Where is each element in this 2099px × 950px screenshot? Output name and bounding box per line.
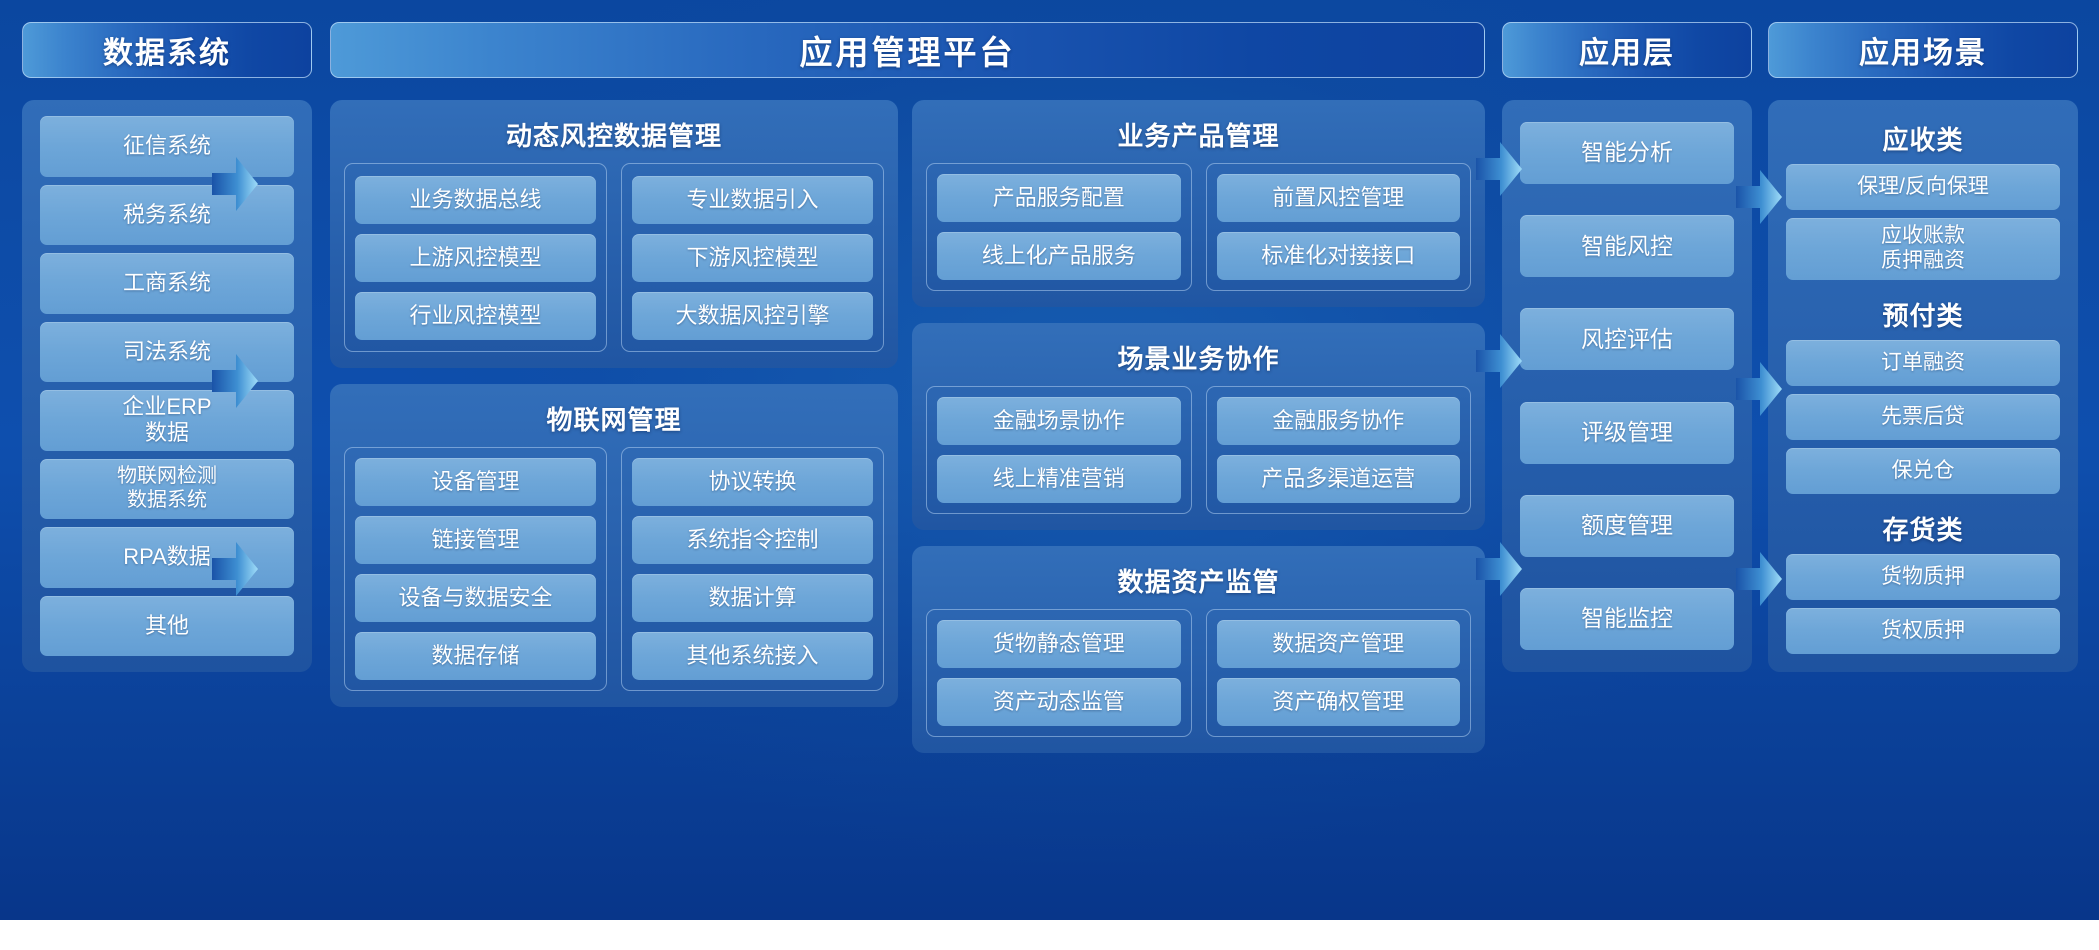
group-column-right: 专业数据引入 下游风控模型 大数据风控引擎 [621, 163, 884, 352]
scenario-item[interactable]: 保理/反向保理 [1786, 164, 2060, 210]
scenario-group-prepaid: 预付类 订单融资 先票后贷 保兑仓 [1786, 288, 2060, 494]
app-layer-item[interactable]: 额度管理 [1520, 495, 1734, 557]
platform-item[interactable]: 大数据风控引擎 [632, 292, 873, 340]
flow-arrow-right-icon [1476, 332, 1522, 390]
column-scenarios: 应用场景 应收类 保理/反向保理 应收账款 质押融资 预付类 订单融资 先票后贷… [1768, 0, 2078, 672]
panel-scenarios-items: 应收类 保理/反向保理 应收账款 质押融资 预付类 订单融资 先票后贷 保兑仓 … [1768, 100, 2078, 672]
platform-item[interactable]: 线上化产品服务 [937, 232, 1181, 280]
platform-item[interactable]: 上游风控模型 [355, 234, 596, 282]
scenario-group-inventory: 存货类 货物质押 货权质押 [1786, 502, 2060, 654]
platform-item[interactable]: 设备与数据安全 [355, 574, 596, 622]
group-column-left: 货物静态管理 资产动态监管 [926, 609, 1192, 737]
platform-item[interactable]: 前置风控管理 [1217, 174, 1461, 222]
platform-item[interactable]: 系统指令控制 [632, 516, 873, 564]
column-app-layer: 应用层 智能分析 智能风控 风控评估 评级管理 额度管理 智能监控 [1502, 0, 1752, 672]
platform-item[interactable]: 资产动态监管 [937, 678, 1181, 726]
group-title: 业务产品管理 [926, 110, 1471, 163]
group-scenario-collaboration: 场景业务协作 金融场景协作 线上精准营销 金融服务协作 产品多渠道运营 [912, 323, 1485, 530]
data-system-item[interactable]: 工商系统 [40, 253, 294, 314]
platform-item[interactable]: 业务数据总线 [355, 176, 596, 224]
group-data-asset-supervision: 数据资产监管 货物静态管理 资产动态监管 数据资产管理 资产确权管理 [912, 546, 1485, 753]
group-business-product: 业务产品管理 产品服务配置 线上化产品服务 前置风控管理 标准化对接接口 [912, 100, 1485, 307]
platform-item[interactable]: 链接管理 [355, 516, 596, 564]
panel-app-layer-items: 智能分析 智能风控 风控评估 评级管理 额度管理 智能监控 [1502, 100, 1752, 672]
platform-item[interactable]: 下游风控模型 [632, 234, 873, 282]
platform-left-stack: 动态风控数据管理 业务数据总线 上游风控模型 行业风控模型 专业数据引入 下游风… [330, 100, 898, 672]
flow-arrow-right-icon [212, 352, 258, 410]
app-layer-item[interactable]: 风控评估 [1520, 308, 1734, 370]
header-app-layer[interactable]: 应用层 [1502, 22, 1752, 78]
architecture-diagram: 数据系统 征信系统 税务系统 工商系统 司法系统 企业ERP 数据 物联网检测 … [0, 0, 2099, 950]
platform-item[interactable]: 货物静态管理 [937, 620, 1181, 668]
group-title: 动态风控数据管理 [344, 110, 884, 163]
group-title: 场景业务协作 [926, 333, 1471, 386]
scenario-item[interactable]: 订单融资 [1786, 340, 2060, 386]
platform-item[interactable]: 金融服务协作 [1217, 397, 1461, 445]
scenario-group-title: 存货类 [1786, 502, 2060, 554]
flow-arrow-right-icon [1736, 360, 1782, 418]
flow-arrow-right-icon [1736, 550, 1782, 608]
platform-item[interactable]: 金融场景协作 [937, 397, 1181, 445]
scenario-item[interactable]: 保兑仓 [1786, 448, 2060, 494]
platform-item[interactable]: 其他系统接入 [632, 632, 873, 680]
platform-item[interactable]: 数据存储 [355, 632, 596, 680]
panel-data-system-items: 征信系统 税务系统 工商系统 司法系统 企业ERP 数据 物联网检测 数据系统 … [22, 100, 312, 672]
header-platform[interactable]: 应用管理平台 [330, 22, 1485, 78]
app-layer-item[interactable]: 智能风控 [1520, 215, 1734, 277]
flow-arrow-right-icon [1476, 540, 1522, 598]
scenario-item[interactable]: 货物质押 [1786, 554, 2060, 600]
group-column-right: 数据资产管理 资产确权管理 [1206, 609, 1472, 737]
platform-item[interactable]: 资产确权管理 [1217, 678, 1461, 726]
header-data-system[interactable]: 数据系统 [22, 22, 312, 78]
scenario-item[interactable]: 先票后贷 [1786, 394, 2060, 440]
group-iot-management: 物联网管理 设备管理 链接管理 设备与数据安全 数据存储 协议转换 系统指令控制 [330, 384, 898, 707]
flow-arrow-right-icon [1736, 168, 1782, 226]
group-column-right: 前置风控管理 标准化对接接口 [1206, 163, 1472, 291]
platform-item[interactable]: 数据资产管理 [1217, 620, 1461, 668]
scenario-group-title: 预付类 [1786, 288, 2060, 340]
group-column-left: 设备管理 链接管理 设备与数据安全 数据存储 [344, 447, 607, 691]
platform-item[interactable]: 产品多渠道运营 [1217, 455, 1461, 503]
diagram-stage: 数据系统 征信系统 税务系统 工商系统 司法系统 企业ERP 数据 物联网检测 … [0, 0, 2099, 920]
platform-right-stack: 业务产品管理 产品服务配置 线上化产品服务 前置风控管理 标准化对接接口 [912, 100, 1485, 672]
platform-item[interactable]: 协议转换 [632, 458, 873, 506]
platform-item[interactable]: 设备管理 [355, 458, 596, 506]
scenario-item[interactable]: 应收账款 质押融资 [1786, 218, 2060, 280]
platform-item[interactable]: 行业风控模型 [355, 292, 596, 340]
header-scenarios[interactable]: 应用场景 [1768, 22, 2078, 78]
group-column-left: 产品服务配置 线上化产品服务 [926, 163, 1192, 291]
data-system-item[interactable]: 其他 [40, 596, 294, 657]
flow-arrow-right-icon [212, 540, 258, 598]
platform-item[interactable]: 线上精准营销 [937, 455, 1181, 503]
platform-item[interactable]: 产品服务配置 [937, 174, 1181, 222]
app-layer-item[interactable]: 智能监控 [1520, 588, 1734, 650]
platform-item[interactable]: 数据计算 [632, 574, 873, 622]
platform-item[interactable]: 专业数据引入 [632, 176, 873, 224]
data-system-item[interactable]: 物联网检测 数据系统 [40, 459, 294, 520]
column-platform: 应用管理平台 动态风控数据管理 业务数据总线 上游风控模型 行业风控模型 [330, 0, 1485, 672]
scenario-group-receivable: 应收类 保理/反向保理 应收账款 质押融资 [1786, 112, 2060, 280]
group-column-left: 业务数据总线 上游风控模型 行业风控模型 [344, 163, 607, 352]
flow-arrow-right-icon [1476, 140, 1522, 198]
scenario-item[interactable]: 货权质押 [1786, 608, 2060, 654]
panel-platform-groups: 动态风控数据管理 业务数据总线 上游风控模型 行业风控模型 专业数据引入 下游风… [330, 100, 1485, 672]
column-data-system: 数据系统 征信系统 税务系统 工商系统 司法系统 企业ERP 数据 物联网检测 … [22, 0, 312, 672]
group-title: 物联网管理 [344, 394, 884, 447]
app-layer-item[interactable]: 评级管理 [1520, 402, 1734, 464]
group-title: 数据资产监管 [926, 556, 1471, 609]
scenario-group-title: 应收类 [1786, 112, 2060, 164]
group-column-right: 金融服务协作 产品多渠道运营 [1206, 386, 1472, 514]
platform-item[interactable]: 标准化对接接口 [1217, 232, 1461, 280]
flow-arrow-right-icon [212, 155, 258, 213]
group-column-left: 金融场景协作 线上精准营销 [926, 386, 1192, 514]
group-dynamic-risk-data: 动态风控数据管理 业务数据总线 上游风控模型 行业风控模型 专业数据引入 下游风… [330, 100, 898, 368]
app-layer-item[interactable]: 智能分析 [1520, 122, 1734, 184]
group-column-right: 协议转换 系统指令控制 数据计算 其他系统接入 [621, 447, 884, 691]
